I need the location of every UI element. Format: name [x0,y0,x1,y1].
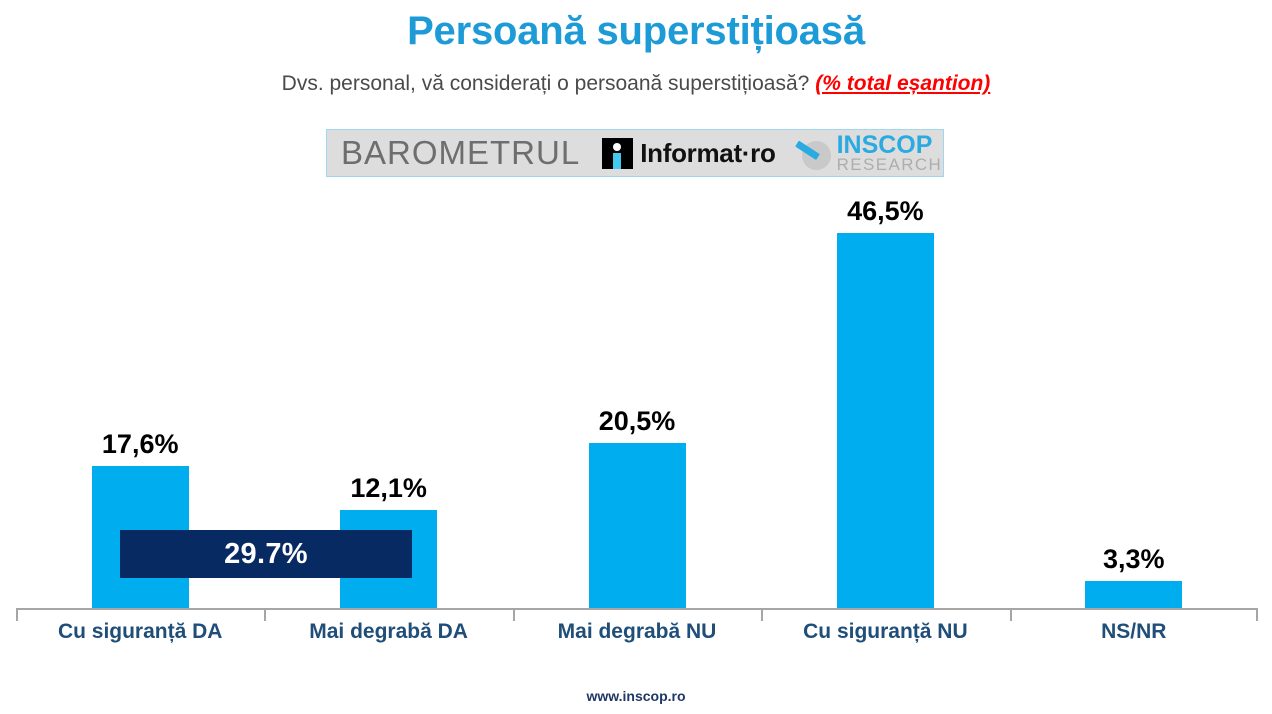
bar-value-label-1: 17,6% [50,429,230,460]
bar-3 [589,443,686,608]
bar-value-label-5: 3,3% [1044,544,1224,575]
category-label-3: Mai degrabă NU [513,620,761,644]
category-label-4: Cu siguranță NU [761,620,1009,644]
bar-value-label-3: 20,5% [547,406,727,437]
category-label-1: Cu siguranță DA [16,620,264,644]
bar-value-label-2: 12,1% [299,473,479,504]
bar-chart-plot: 17,6%12,1%20,5%46,5%3,3% Cu siguranță DA… [0,0,1272,714]
footer-website: www.inscop.ro [0,688,1272,704]
total-da-callout: 29.7% [120,530,412,578]
bar-5 [1085,581,1182,608]
category-label-5: NS/NR [1010,620,1258,644]
total-da-value: 29.7% [224,538,308,571]
category-label-2: Mai degrabă DA [264,620,512,644]
x-axis-line [16,608,1258,610]
bar-value-label-4: 46,5% [795,196,975,227]
bar-4 [837,233,934,608]
